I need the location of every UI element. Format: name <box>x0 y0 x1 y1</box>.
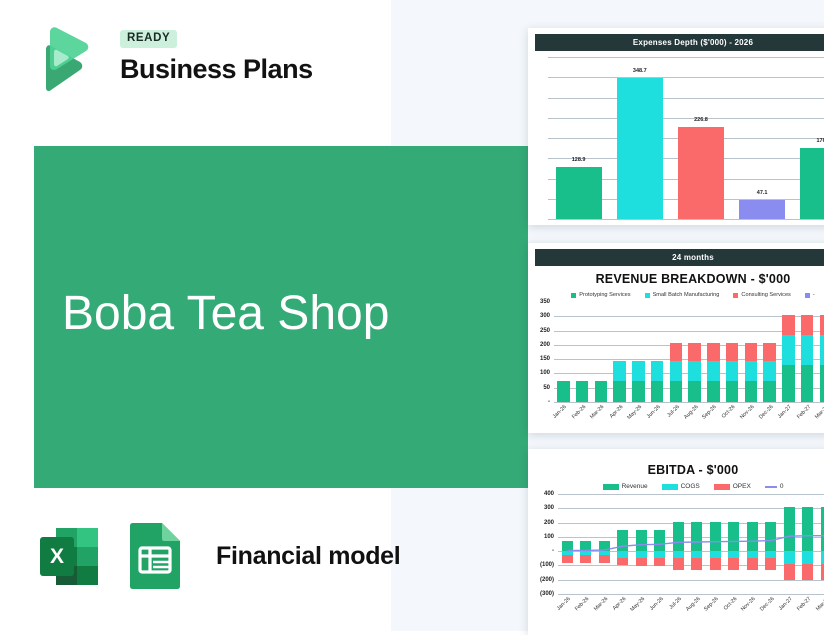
y-axis-tick: 50 <box>532 385 550 391</box>
bar-segment <box>820 365 824 402</box>
play-triangle-logo-icon <box>28 26 96 94</box>
y-axis-tick: 100 <box>532 534 554 540</box>
x-axis-tick: Dec-26 <box>759 596 776 613</box>
bar-segment <box>595 381 608 402</box>
x-axis-tick: Aug-26 <box>685 596 702 613</box>
bar-column <box>763 343 776 402</box>
legend-line-swatch <box>765 486 777 488</box>
bar-segment <box>820 335 824 365</box>
bar-column <box>801 315 814 402</box>
y-axis-tick: 150 <box>532 356 550 362</box>
expenses-header-wrap: Expenses Depth ($'000) - 2026 <box>528 28 824 51</box>
x-axis-tick: Mar-27 <box>814 404 824 420</box>
legend-item: Revenue <box>603 483 648 490</box>
x-axis-tick: Jul-26 <box>666 404 681 419</box>
bar-column <box>670 343 683 402</box>
bar-segment <box>557 381 570 402</box>
chart-card-revenue[interactable]: 24 months REVENUE BREAKDOWN - $'000 Prot… <box>528 243 824 433</box>
y-axis-tick: (300) <box>532 591 554 597</box>
x-axis-tick: May-26 <box>626 404 643 421</box>
x-axis-tick: Nov-26 <box>740 596 757 613</box>
legend-item: Prototyping Services <box>571 292 630 298</box>
bar-segment <box>801 335 814 365</box>
bar-column <box>688 343 701 402</box>
bar-value-label: 128.9 <box>572 157 586 163</box>
legend-label: Small Batch Manufacturing <box>653 292 720 298</box>
bar-segment <box>651 381 664 402</box>
bar-segment <box>576 381 589 402</box>
footer-label: Financial model <box>216 542 400 571</box>
bar-segment <box>801 315 814 336</box>
bar-segment <box>632 361 645 381</box>
google-sheets-icon <box>122 520 186 592</box>
brand-name: Business Plans <box>120 55 313 83</box>
bar-segment <box>670 343 683 360</box>
bar-segment <box>726 381 739 402</box>
legend-label: Prototyping Services <box>579 292 630 298</box>
x-axis-tick: Oct-26 <box>723 596 739 612</box>
bar-column <box>613 361 626 402</box>
bar <box>556 167 602 219</box>
y-axis-tick: - <box>532 399 550 405</box>
y-axis-tick: - <box>532 548 554 554</box>
x-axis-tick: Jan-26 <box>552 404 568 420</box>
bar-column <box>707 343 720 402</box>
legend-color-swatch <box>571 293 576 298</box>
legend-label: COGS <box>681 483 700 490</box>
revenue-chart-title: REVENUE BREAKDOWN - $'000 <box>528 272 824 286</box>
bar-segment <box>782 315 795 336</box>
page-title: Boba Tea Shop <box>62 288 389 341</box>
bar-column <box>745 343 758 402</box>
revenue-legend: Prototyping ServicesSmall Batch Manufact… <box>528 292 824 298</box>
bar-segment <box>745 381 758 402</box>
gridline <box>548 219 824 220</box>
bar-segment <box>688 343 701 360</box>
bar-column: 226.8 <box>678 127 724 219</box>
expenses-inner: 128.9348.7226.847.1176.5 <box>548 57 824 219</box>
ebitda-legend: RevenueCOGSOPEX0 <box>528 483 824 490</box>
legend-item: Consulting Services <box>733 292 790 298</box>
bar-segment <box>763 343 776 360</box>
legend-item: 0 <box>765 483 784 490</box>
bar-segment <box>707 343 720 360</box>
ready-badge: READY <box>120 30 177 48</box>
x-axis-tick: Jan-27 <box>778 596 794 612</box>
bar-segment <box>613 361 626 381</box>
x-axis-tick: Dec-26 <box>758 404 775 421</box>
revenue-bars <box>554 302 824 402</box>
bar-segment <box>670 381 683 402</box>
legend-color-swatch <box>805 293 810 298</box>
x-axis-tick: Feb-27 <box>796 404 812 420</box>
x-axis-tick: Aug-26 <box>683 404 700 421</box>
bar-value-label: 47.1 <box>757 190 768 196</box>
bar-column <box>557 381 570 402</box>
ebitda-plot-area: 400300200100-(100)(200)(300)Jan-26Feb-26… <box>532 494 824 624</box>
bar-segment <box>782 335 795 365</box>
bar-segment <box>670 361 683 381</box>
y-axis-tick: 200 <box>532 520 554 526</box>
ebitda-inner: 400300200100-(100)(200)(300)Jan-26Feb-26… <box>558 494 824 594</box>
footer-row: X Financial model <box>34 520 400 592</box>
bar-column <box>782 315 795 402</box>
bar-segment <box>707 361 720 381</box>
chart-card-ebitda[interactable]: EBITDA - $'000 RevenueCOGSOPEX0 40030020… <box>528 449 824 635</box>
y-axis-tick: (200) <box>532 577 554 583</box>
bar-segment <box>820 315 824 336</box>
y-axis-tick: 300 <box>532 313 550 319</box>
bar-segment <box>763 381 776 402</box>
bar-segment <box>782 365 795 402</box>
microsoft-excel-icon: X <box>34 520 106 592</box>
y-axis-tick: 200 <box>532 342 550 348</box>
x-axis-tick: Oct-26 <box>721 404 737 420</box>
legend-color-swatch <box>733 293 738 298</box>
bar-column: 176.5 <box>800 148 824 219</box>
brand-logo-block: READY Business Plans <box>28 24 368 96</box>
legend-color-swatch <box>714 484 730 490</box>
legend-item: - <box>805 292 815 298</box>
legend-item: OPEX <box>714 483 751 490</box>
legend-item: Small Batch Manufacturing <box>645 292 720 298</box>
y-axis-tick: 100 <box>532 370 550 376</box>
bar-segment <box>632 381 645 402</box>
bar-column: 128.9 <box>556 167 602 219</box>
bar-value-label: 176.5 <box>816 138 824 144</box>
bar-column <box>576 381 589 402</box>
bar-segment <box>745 361 758 381</box>
ebitda-zero-line-series <box>558 494 824 594</box>
x-axis-tick: Jul-26 <box>668 596 683 611</box>
legend-label: OPEX <box>733 483 751 490</box>
bar-segment <box>688 361 701 381</box>
x-axis-tick: Feb-26 <box>574 596 590 612</box>
bar-segment <box>613 381 626 402</box>
gridline <box>554 402 824 403</box>
x-axis-tick: Sep-26 <box>703 596 720 613</box>
bar-segment <box>707 381 720 402</box>
x-axis-tick: Mar-27 <box>815 596 824 612</box>
x-axis-tick: Jan-27 <box>777 404 793 420</box>
x-axis-tick: Apr-26 <box>609 404 625 420</box>
bar-segment <box>651 361 664 381</box>
y-axis-tick: (100) <box>532 562 554 568</box>
bar-value-label: 226.8 <box>694 117 708 123</box>
revenue-plot-area: 35030025020015010050-Jan-26Feb-26Mar-26A… <box>532 302 824 430</box>
expenses-bars: 128.9348.7226.847.1176.5 <box>548 57 824 219</box>
y-axis-tick: 250 <box>532 328 550 334</box>
x-axis-tick: Mar-26 <box>589 404 605 420</box>
x-axis-tick: Sep-26 <box>702 404 719 421</box>
revenue-header-wrap: 24 months <box>528 243 824 266</box>
revenue-inner: 35030025020015010050-Jan-26Feb-26Mar-26A… <box>554 302 824 402</box>
bar <box>678 127 724 219</box>
x-axis-tick: Nov-26 <box>739 404 756 421</box>
bar-segment <box>745 343 758 360</box>
bar-segment <box>763 361 776 381</box>
legend-label: 0 <box>780 483 784 490</box>
gridline <box>558 594 824 595</box>
legend-label: Revenue <box>622 483 648 490</box>
x-axis-tick: Jun-26 <box>646 404 662 420</box>
bar-segment <box>726 361 739 381</box>
x-axis-tick: Mar-26 <box>593 596 609 612</box>
svg-text:X: X <box>50 545 64 568</box>
y-axis-tick: 400 <box>532 491 554 497</box>
bar-column <box>632 361 645 402</box>
x-axis-tick: Feb-26 <box>571 404 587 420</box>
bar-column <box>820 315 824 402</box>
legend-color-swatch <box>645 293 650 298</box>
legend-item: COGS <box>662 483 700 490</box>
x-axis-tick: May-26 <box>629 596 646 613</box>
bar-column <box>595 381 608 402</box>
revenue-header-bar: 24 months <box>535 249 824 266</box>
y-axis-tick: 300 <box>532 505 554 511</box>
ebitda-chart-title: EBITDA - $'000 <box>528 463 824 477</box>
bar <box>739 200 785 219</box>
chart-card-expenses[interactable]: Expenses Depth ($'000) - 2026 128.9348.7… <box>528 28 824 225</box>
legend-color-swatch <box>603 484 619 490</box>
x-axis-tick: Feb-27 <box>796 596 812 612</box>
bar-value-label: 348.7 <box>633 68 647 74</box>
bar-segment <box>801 365 814 402</box>
bar <box>617 78 663 219</box>
bar-segment <box>688 381 701 402</box>
bar-column: 47.1 <box>739 200 785 219</box>
y-axis-tick: 350 <box>532 299 550 305</box>
x-axis-tick: Jun-26 <box>649 596 665 612</box>
brand-wordmark: READY Business Plans <box>120 28 313 83</box>
bar-column: 348.7 <box>617 78 663 219</box>
bar-segment <box>726 343 739 360</box>
expenses-plot-area: 128.9348.7226.847.1176.5 <box>536 57 824 219</box>
x-axis-tick: Apr-26 <box>612 596 628 612</box>
legend-color-swatch <box>662 484 678 490</box>
bar-column <box>726 343 739 402</box>
legend-label: Consulting Services <box>741 292 790 298</box>
bar-column <box>651 361 664 402</box>
legend-label: - <box>813 292 815 298</box>
x-axis-tick: Jan-26 <box>556 596 572 612</box>
expenses-header-bar: Expenses Depth ($'000) - 2026 <box>535 34 824 51</box>
bar <box>800 148 824 219</box>
